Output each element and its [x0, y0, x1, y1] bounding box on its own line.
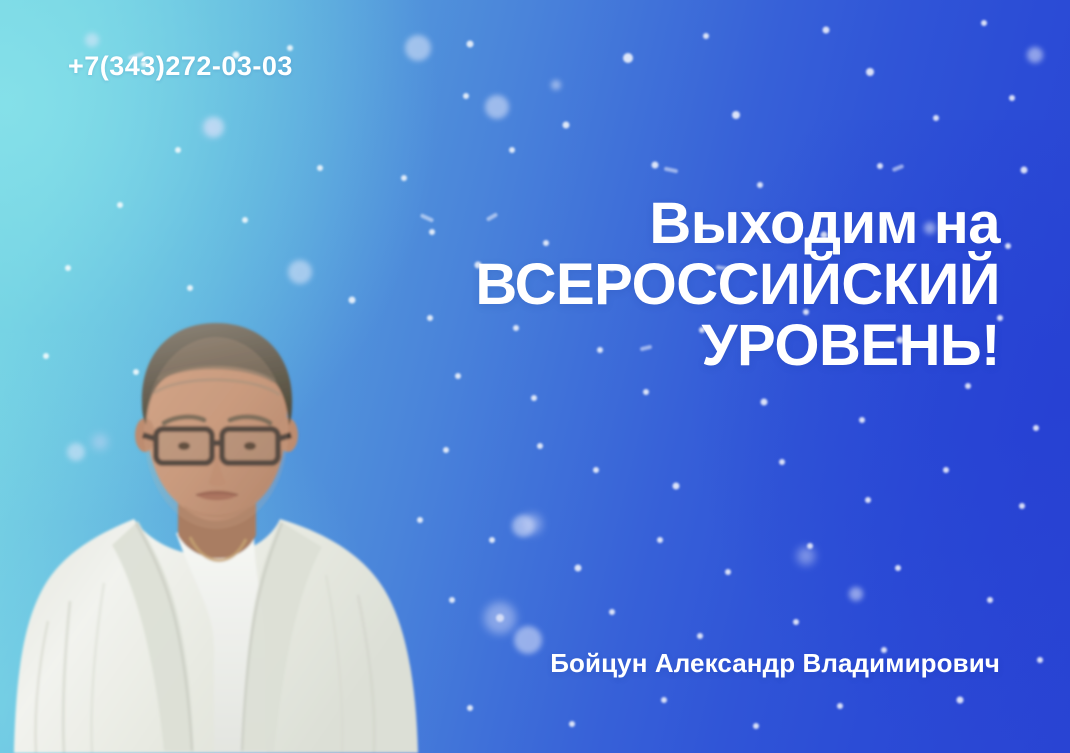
headline-line-2: ВСЕРОССИЙСКИЙ: [360, 257, 1000, 314]
promo-banner: +7(343)272-03-03 Выходим на ВСЕРОССИЙСКИ…: [0, 0, 1070, 753]
phone-number[interactable]: +7(343)272-03-03: [68, 52, 293, 82]
person-name-caption: Бойцун Александр Владимирович: [550, 648, 1000, 679]
headline-line-3: УРОВЕНЬ!: [360, 318, 1000, 375]
headline: Выходим на ВСЕРОССИЙСКИЙ УРОВЕНЬ!: [360, 196, 1000, 374]
headline-line-1: Выходим на: [360, 196, 1000, 253]
